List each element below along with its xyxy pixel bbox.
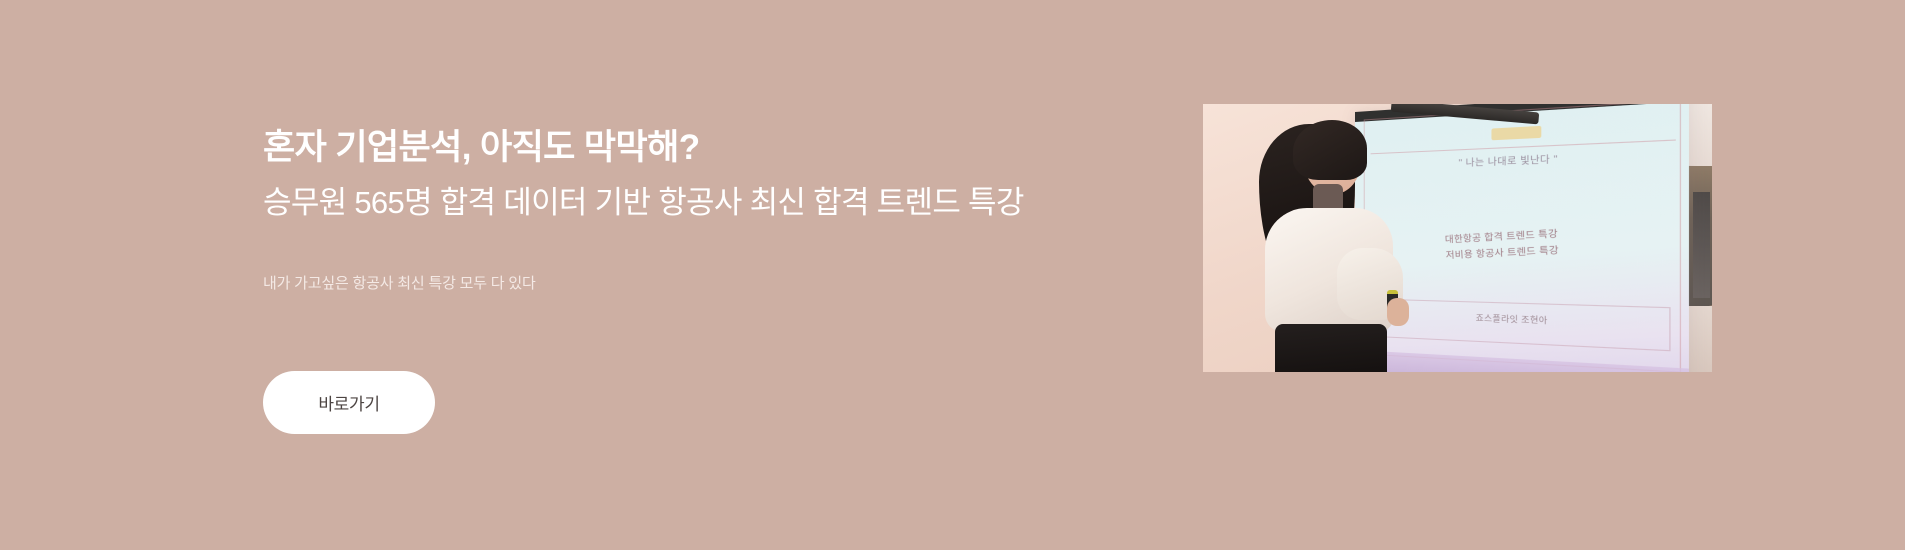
presenter-lecture-photo: " 나는 나대로 빛난다 " 대한항공 합격 트렌드 특강 저비용 항공사 트렌… [1203, 104, 1712, 372]
banner-copy-block: 혼자 기업분석, 아직도 막막해? 승무원 565명 합격 데이터 기반 항공사… [263, 126, 1183, 293]
go-to-button[interactable]: 바로가기 [263, 371, 435, 434]
window-glass [1693, 192, 1710, 298]
presenter-figure [1241, 122, 1431, 372]
banner-subheadline: 승무원 565명 합격 데이터 기반 항공사 최신 합격 트렌드 특강 [263, 183, 1183, 223]
page-title: 혼자 기업분석, 아직도 막막해? [263, 126, 1183, 170]
presenter-hair-front [1293, 120, 1367, 180]
slide-badge [1491, 126, 1541, 140]
banner-description: 내가 가고싶은 항공사 최신 특강 모두 다 있다 [263, 272, 1183, 293]
presenter-hand [1387, 298, 1409, 326]
promo-banner: 혼자 기업분석, 아직도 막막해? 승무원 565명 합격 데이터 기반 항공사… [0, 0, 1905, 550]
presenter-skirt [1275, 324, 1387, 372]
